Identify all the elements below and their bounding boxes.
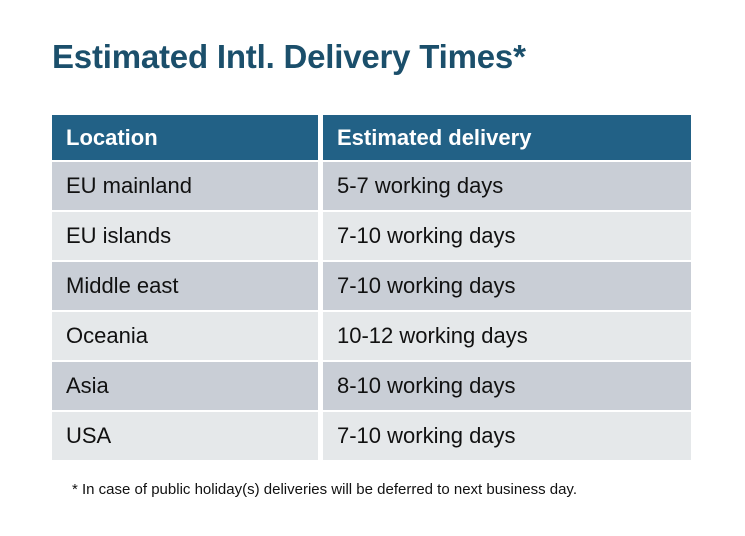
- cell-delivery: 7-10 working days: [323, 262, 691, 310]
- cell-delivery: 10-12 working days: [323, 312, 691, 360]
- footnote-text: * In case of public holiday(s) deliverie…: [72, 479, 722, 501]
- table-row: Oceania 10-12 working days: [52, 312, 691, 360]
- cell-location: Middle east: [52, 262, 318, 310]
- cell-delivery: 7-10 working days: [323, 412, 691, 460]
- cell-location: USA: [52, 412, 318, 460]
- column-header-location: Location: [52, 115, 318, 160]
- table-header-row: Location Estimated delivery: [52, 115, 691, 160]
- table-row: EU mainland 5-7 working days: [52, 162, 691, 210]
- column-header-estimated-delivery: Estimated delivery: [323, 115, 691, 160]
- cell-location: EU islands: [52, 212, 318, 260]
- table-row: EU islands 7-10 working days: [52, 212, 691, 260]
- page-title: Estimated Intl. Delivery Times*: [52, 36, 692, 78]
- cell-location: Asia: [52, 362, 318, 410]
- cell-delivery: 5-7 working days: [323, 162, 691, 210]
- cell-delivery: 8-10 working days: [323, 362, 691, 410]
- table-row: Asia 8-10 working days: [52, 362, 691, 410]
- delivery-times-page: Estimated Intl. Delivery Times* Location…: [0, 0, 745, 536]
- cell-delivery: 7-10 working days: [323, 212, 691, 260]
- table-row: USA 7-10 working days: [52, 412, 691, 460]
- delivery-times-table: Location Estimated delivery EU mainland …: [52, 115, 691, 462]
- cell-location: Oceania: [52, 312, 318, 360]
- cell-location: EU mainland: [52, 162, 318, 210]
- table-row: Middle east 7-10 working days: [52, 262, 691, 310]
